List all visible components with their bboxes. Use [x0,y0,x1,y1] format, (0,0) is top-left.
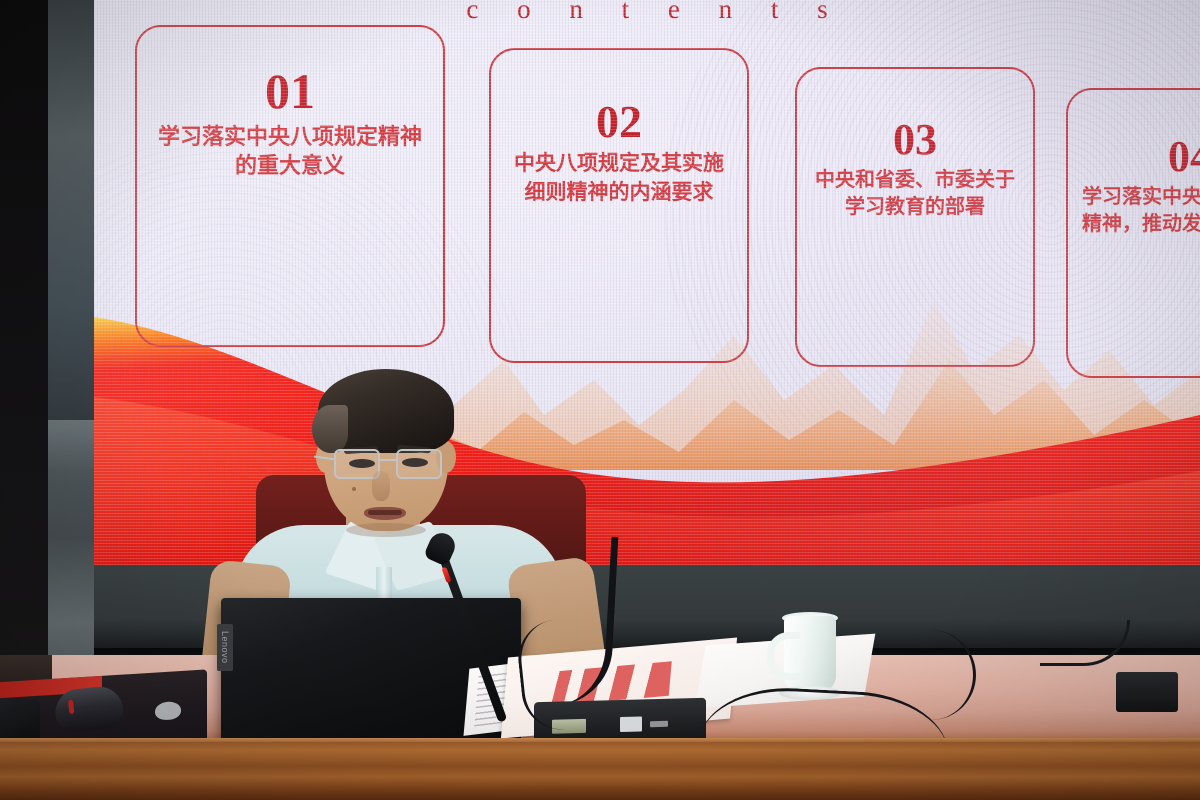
glasses-bridge [380,459,396,461]
card-text: 学习落实中央八项规定精神，推动发展稳步 [1082,184,1200,238]
slide-card-list: 01 学习落实中央八项规定精神的重大意义 02 中央八项规定及其实施细则精神的内… [94,0,1200,400]
slide-card-01: 01 学习落实中央八项规定精神的重大意义 [135,25,445,347]
cheek-mark [352,487,356,491]
lens-right [396,449,442,479]
card-number: 03 [811,117,1019,163]
card-number: 02 [505,98,733,146]
glass-wall-panel [48,0,98,760]
card-number: 04 [1082,134,1200,180]
desk-front-panel [0,742,1200,800]
card-number: 01 [151,65,429,118]
base-brand-badge [620,716,642,732]
nose [372,471,390,501]
cable-junction-box [1116,672,1178,712]
mouth [364,507,406,520]
base-model-text [650,721,668,727]
card-text: 中央和省委、市委关于学习教育的部署 [811,167,1019,221]
slide-card-04: 04 学习落实中央八项规定精神，推动发展稳步 [1066,88,1200,378]
ceramic-mug[interactable] [784,616,836,692]
steelseries-logo-icon [155,701,181,721]
desk-cable-two [846,630,976,720]
chin-shadow [346,523,426,537]
slide-card-02: 02 中央八项规定及其实施细则精神的内涵要求 [489,48,749,363]
card-text: 学习落实中央八项规定精神的重大意义 [151,122,429,182]
conference-room-photo: c o n t e n t s 01 学习落实中央八项规定精神的重大意义 02 … [0,0,1200,800]
card-text: 中央八项规定及其实施细则精神的内涵要求 [505,150,733,207]
hair [318,369,454,453]
slide-card-03: 03 中央和省委、市委关于学习教育的部署 [795,67,1035,367]
lenovo-logo-icon: Lenovo [217,624,233,671]
